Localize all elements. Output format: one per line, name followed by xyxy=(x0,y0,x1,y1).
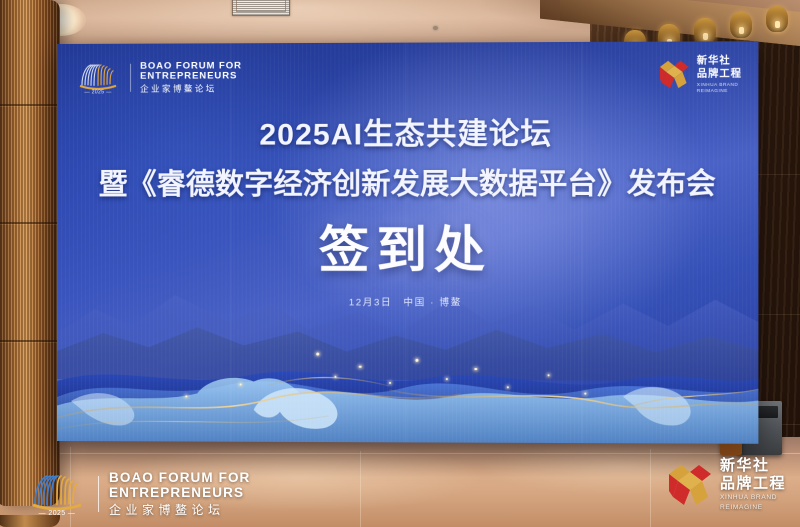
watermark-xinhua-cn-line2: 品牌工程 xyxy=(720,475,786,492)
air-vent-icon xyxy=(232,0,290,16)
watermark-xinhua-logo: 新华社 品牌工程 XINHUA BRAND REIMAGINE xyxy=(667,457,786,513)
smoke-detector-icon xyxy=(433,26,438,30)
backdrop-xinhua-logo: 新华社 品牌工程 XINHUA BRAND REIMAGINE xyxy=(658,55,742,93)
watermark-boao-logo: — 2025 — BOAO FORUM FOR ENTREPRENEURS 企业… xyxy=(26,470,250,517)
svg-text:— 2025 —: — 2025 — xyxy=(84,89,112,95)
svg-text:— 2025 —: — 2025 — xyxy=(39,510,76,517)
xinhua-logo-en-line2: REIMAGINE xyxy=(697,88,742,93)
xinhua-logo-cn-line1: 新华社 xyxy=(697,55,742,67)
wooden-column xyxy=(0,0,60,506)
backdrop-boao-logo: — 2025 — BOAO FORUM FOR ENTREPRENEURS 企业… xyxy=(75,60,242,95)
boao-forum-fan-logo-icon: — 2025 — xyxy=(75,61,121,95)
watermark-boao-en-line2: ENTREPRENEURS xyxy=(109,485,250,500)
event-title-line2: 暨《睿德数字经济创新发展大数据平台》发布会 xyxy=(57,160,758,203)
boao-logo-cn: 企业家博鳌论坛 xyxy=(140,84,242,94)
xinhua-logo-cn-line2: 品牌工程 xyxy=(697,68,742,80)
event-title-line1: 2025AI生态共建论坛 xyxy=(57,108,758,154)
xinhua-brand-cube-logo-icon xyxy=(667,462,713,508)
watermark-xinhua-en-line2: REIMAGINE xyxy=(720,504,786,513)
led-backdrop-screen: — 2025 — BOAO FORUM FOR ENTREPRENEURS 企业… xyxy=(57,41,758,444)
venue-photo-scene: — 2025 — BOAO FORUM FOR ENTREPRENEURS 企业… xyxy=(0,0,800,527)
watermark-boao-cn: 企业家博鳌论坛 xyxy=(109,504,250,517)
wall-sconce-icon xyxy=(730,12,752,38)
watermark-boao-en-line1: BOAO FORUM FOR xyxy=(109,470,250,485)
boao-forum-fan-logo-icon: — 2025 — xyxy=(26,471,88,517)
logo-divider xyxy=(130,64,131,92)
xinhua-logo-en-line1: XINHUA BRAND xyxy=(697,81,742,86)
watermark-xinhua-en-line1: XINHUA BRAND xyxy=(720,494,786,503)
checkin-headline: 签到处 xyxy=(57,210,758,283)
xinhua-brand-cube-logo-icon xyxy=(658,58,691,91)
logo-divider xyxy=(98,476,99,512)
wall-sconce-icon xyxy=(694,18,716,44)
watermark-xinhua-cn-line1: 新华社 xyxy=(720,457,786,474)
boao-logo-en-line2: ENTREPRENEURS xyxy=(140,72,242,83)
wall-sconce-icon xyxy=(766,6,788,32)
event-title-block: 2025AI生态共建论坛 暨《睿德数字经济创新发展大数据平台》发布会 xyxy=(57,108,758,203)
event-date-location: 12月3日 中国 · 博鳌 xyxy=(57,294,758,309)
